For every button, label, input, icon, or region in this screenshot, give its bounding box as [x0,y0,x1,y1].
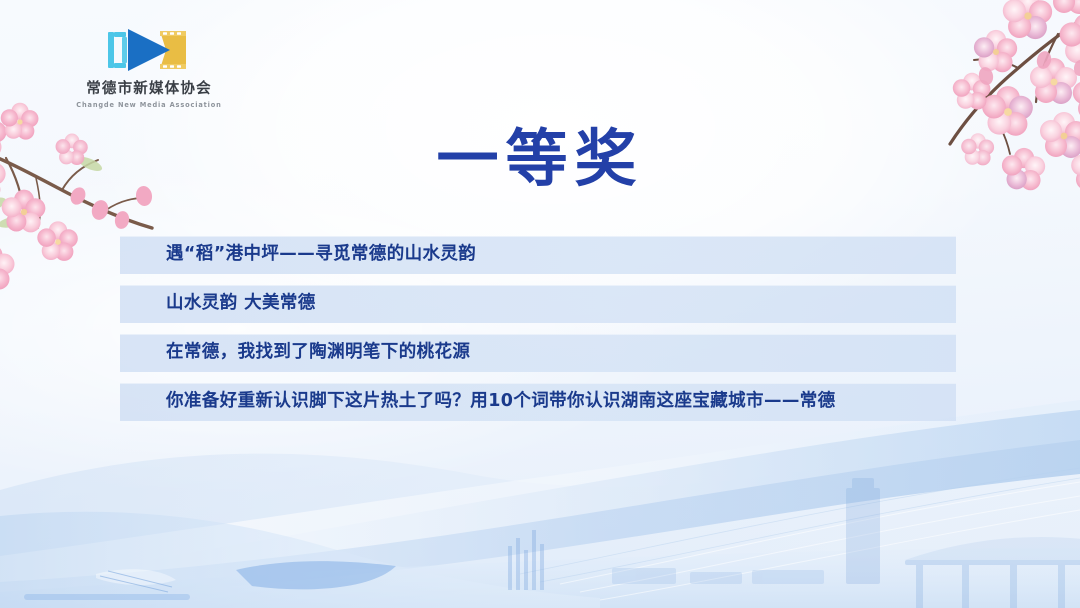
slide-canvas: 常德市新媒体协会 Changde New Media Association 一… [0,0,1080,608]
award-title: 你准备好重新认识脚下这片热土了吗？用10个词带你认识湖南这座宝藏城市——常德 [120,393,836,411]
play-film-logo-glyph [106,25,192,75]
organization-logo: 常德市新媒体协会 Changde New Media Association [56,24,242,109]
award-list: 遇“稻”港中坪——寻觅常德的山水灵韵 山水灵韵 大美常德 在常德，我找到了陶渊明… [120,236,956,421]
award-row: 你准备好重新认识脚下这片热土了吗？用10个词带你认识湖南这座宝藏城市——常德 [120,383,956,421]
award-title: 在常德，我找到了陶渊明笔下的桃花源 [120,344,470,362]
award-title: 遇“稻”港中坪——寻觅常德的山水灵韵 [120,246,476,264]
award-row: 遇“稻”港中坪——寻觅常德的山水灵韵 [120,236,956,274]
play-film-logo-icon [56,24,242,76]
logo-name-cn: 常德市新媒体协会 [56,81,242,98]
award-row: 山水灵韵 大美常德 [120,285,956,323]
award-row: 在常德，我找到了陶渊明笔下的桃花源 [120,334,956,372]
award-title: 山水灵韵 大美常德 [120,295,316,313]
logo-name-en: Changde New Media Association [56,101,242,109]
page-title: 一等奖 [0,128,1080,190]
